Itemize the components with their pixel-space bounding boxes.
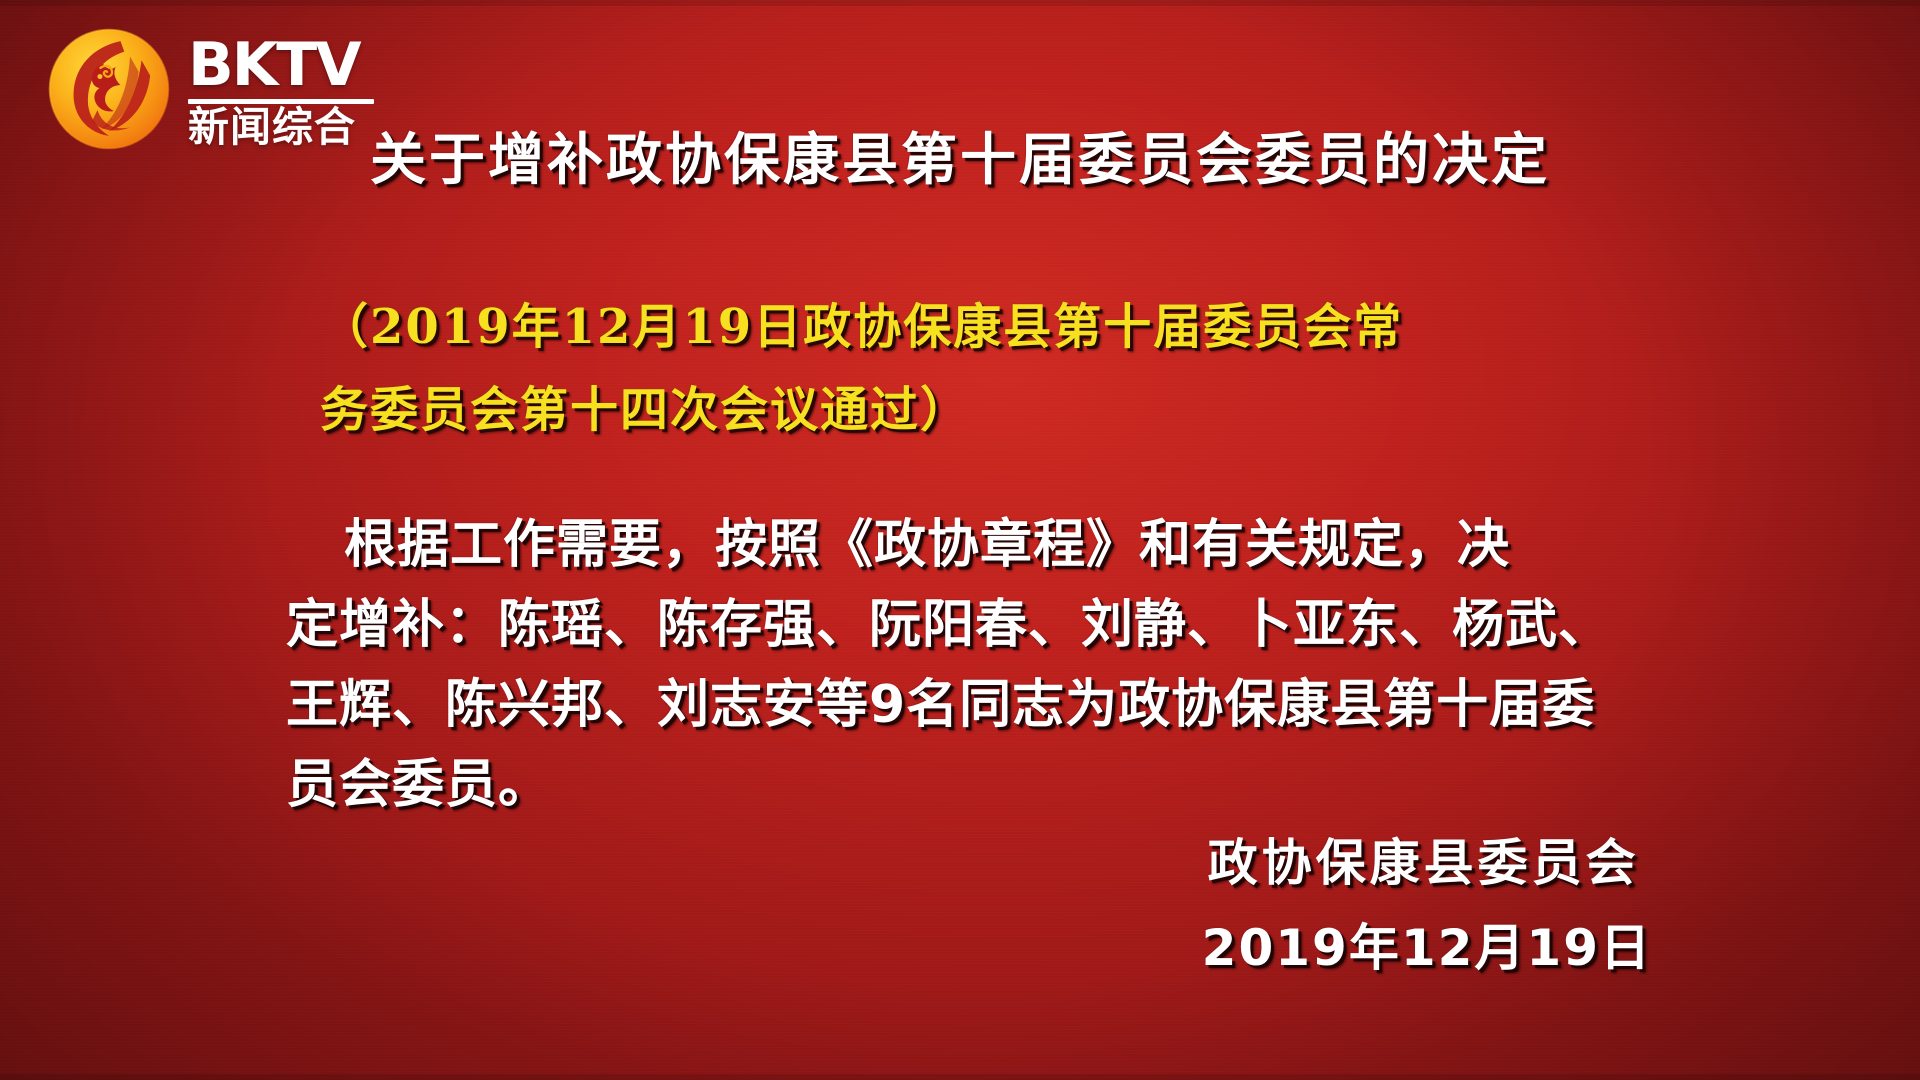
body-line-1: 根据工作需要，按照《政协章程》和有关规定，决 xyxy=(286,505,1650,585)
channel-logo-bug: BKTV 新闻综合 xyxy=(42,22,374,156)
bottom-edge-band xyxy=(0,1074,1920,1080)
broadcast-slate: BKTV 新闻综合 关于增补政协保康县第十届委员会委员的决定 （2019年12月… xyxy=(0,0,1920,1080)
document-body: 根据工作需要，按照《政协章程》和有关规定，决 定增补：陈瑶、陈存强、阮阳春、刘静… xyxy=(286,505,1650,825)
channel-wordmark: BKTV 新闻综合 xyxy=(188,22,374,148)
wordmark-bktv: BKTV xyxy=(188,36,360,95)
body-line-2: 定增补：陈瑶、陈存强、阮阳春、刘静、卜亚东、杨武、 xyxy=(286,585,1650,665)
provenance-line-2: 务委员会第十四次会议通过） xyxy=(320,369,1620,452)
signature-block: 政协保康县委员会 2019年12月19日 xyxy=(1208,832,1652,979)
phoenix-circle-icon xyxy=(42,22,176,156)
provenance-note: （2019年12月19日政协保康县第十届委员会常 务委员会第十四次会议通过） xyxy=(320,286,1620,451)
body-line-4: 员会委员。 xyxy=(286,745,1650,825)
wordmark-subbrand: 新闻综合 xyxy=(188,107,356,148)
provenance-line-1: （2019年12月19日政协保康县第十届委员会常 xyxy=(320,286,1620,369)
signature-organization: 政协保康县委员会 xyxy=(1208,832,1652,895)
body-line-3: 王辉、陈兴邦、刘志安等9名同志为政协保康县第十届委 xyxy=(286,665,1650,745)
top-edge-band xyxy=(0,0,1920,6)
signature-date: 2019年12月19日 xyxy=(1202,917,1652,980)
